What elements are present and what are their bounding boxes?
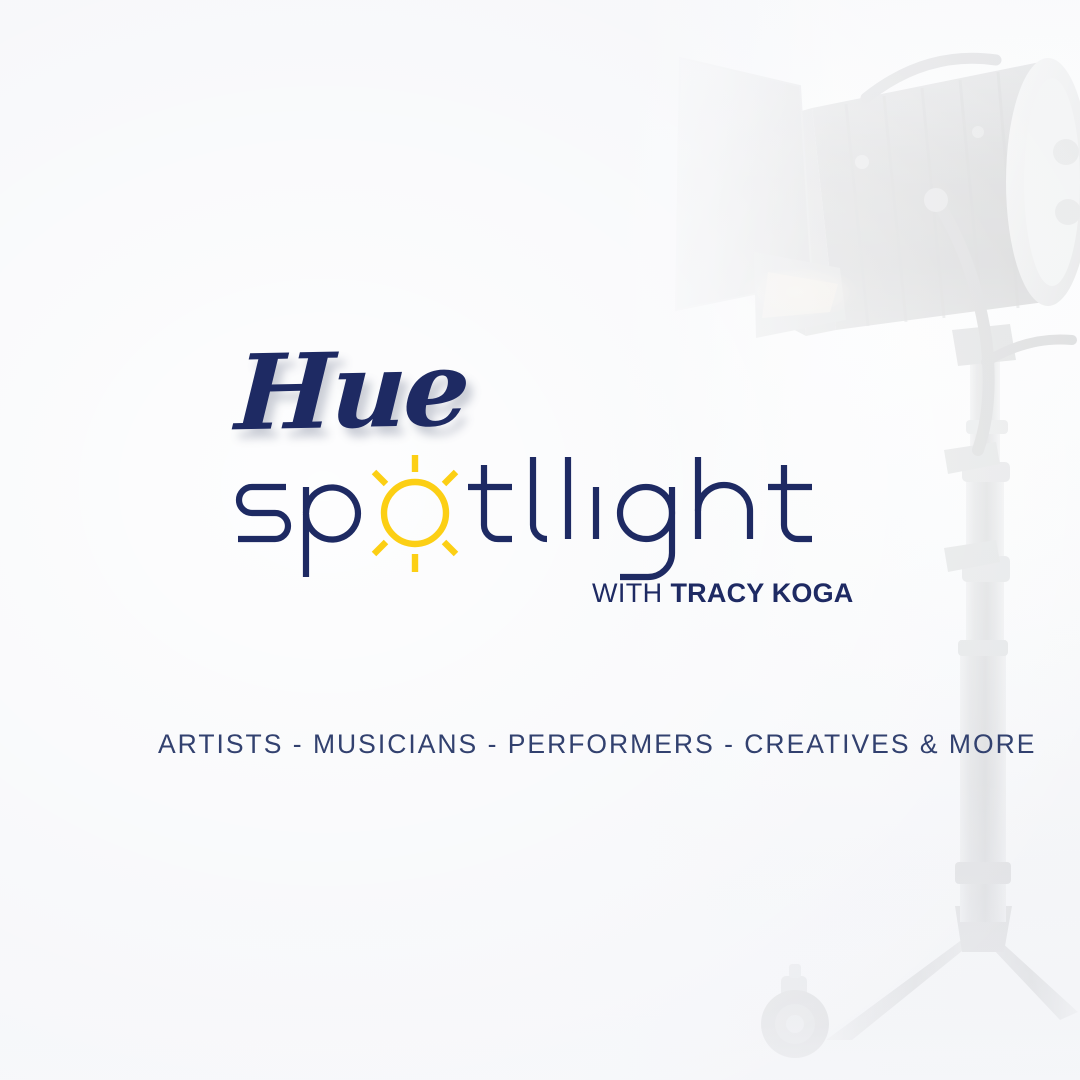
host-credit-line: WITH TRACY KOGA [592,580,854,607]
brand-logo: Hue [0,0,1080,1080]
sun-icon [374,455,456,572]
host-credit-prefix: WITH [592,578,663,608]
host-name: TRACY KOGA [670,578,853,608]
brand-wordmark [228,455,828,580]
tagline: ARTISTS - MUSICIANS - PERFORMERS - CREAT… [158,731,1036,758]
brand-script-word: Hue [233,337,469,446]
podcast-cover-canvas: Hue [0,0,1080,1080]
